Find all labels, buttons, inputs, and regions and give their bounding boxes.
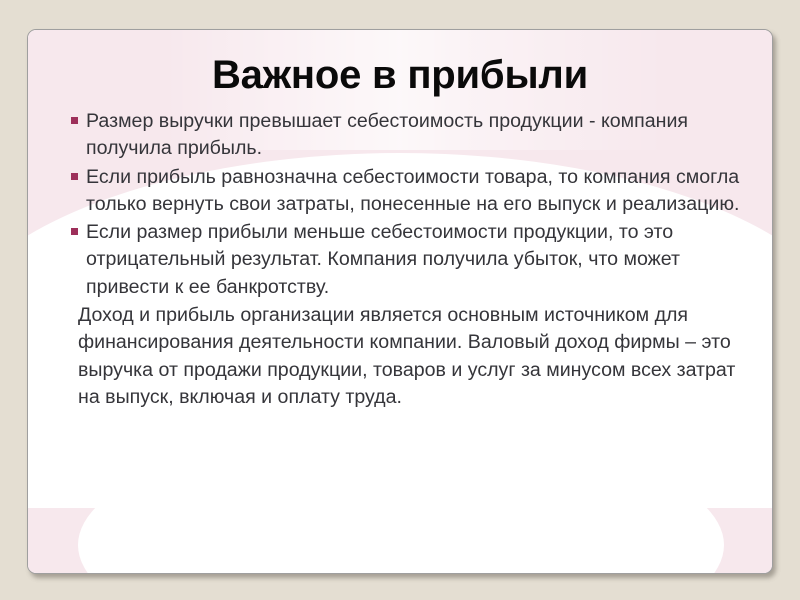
bullet-paragraph-1-text: Размер выручки превышает себестоимость п… <box>86 108 744 163</box>
slide-title: Важное в прибыли <box>28 55 772 95</box>
square-bullet-icon <box>71 228 78 235</box>
bullet-paragraph-3-text: Если размер прибыли меньше себестоимости… <box>86 219 744 301</box>
slide-canvas: Важное в прибыли Размер выручки превышае… <box>0 0 800 600</box>
square-bullet-icon <box>71 173 78 180</box>
bullet-paragraph-1: Размер выручки превышает себестоимость п… <box>54 108 744 163</box>
slide-content: Важное в прибыли Размер выручки превышае… <box>28 30 772 573</box>
bullet-paragraph-3: Если размер прибыли меньше себестоимости… <box>54 219 744 301</box>
square-bullet-icon <box>71 117 78 124</box>
slide-body: Размер выручки превышает себестоимость п… <box>54 108 744 412</box>
presentation-slide: Важное в прибыли Размер выручки превышае… <box>27 29 773 574</box>
closing-paragraph: Доход и прибыль организации является осн… <box>54 302 744 411</box>
bullet-paragraph-2: Если прибыль равнозначна себестоимости т… <box>54 164 744 219</box>
closing-paragraph-text: Доход и прибыль организации является осн… <box>78 302 744 411</box>
bullet-paragraph-2-text: Если прибыль равнозначна себестоимости т… <box>86 164 744 219</box>
